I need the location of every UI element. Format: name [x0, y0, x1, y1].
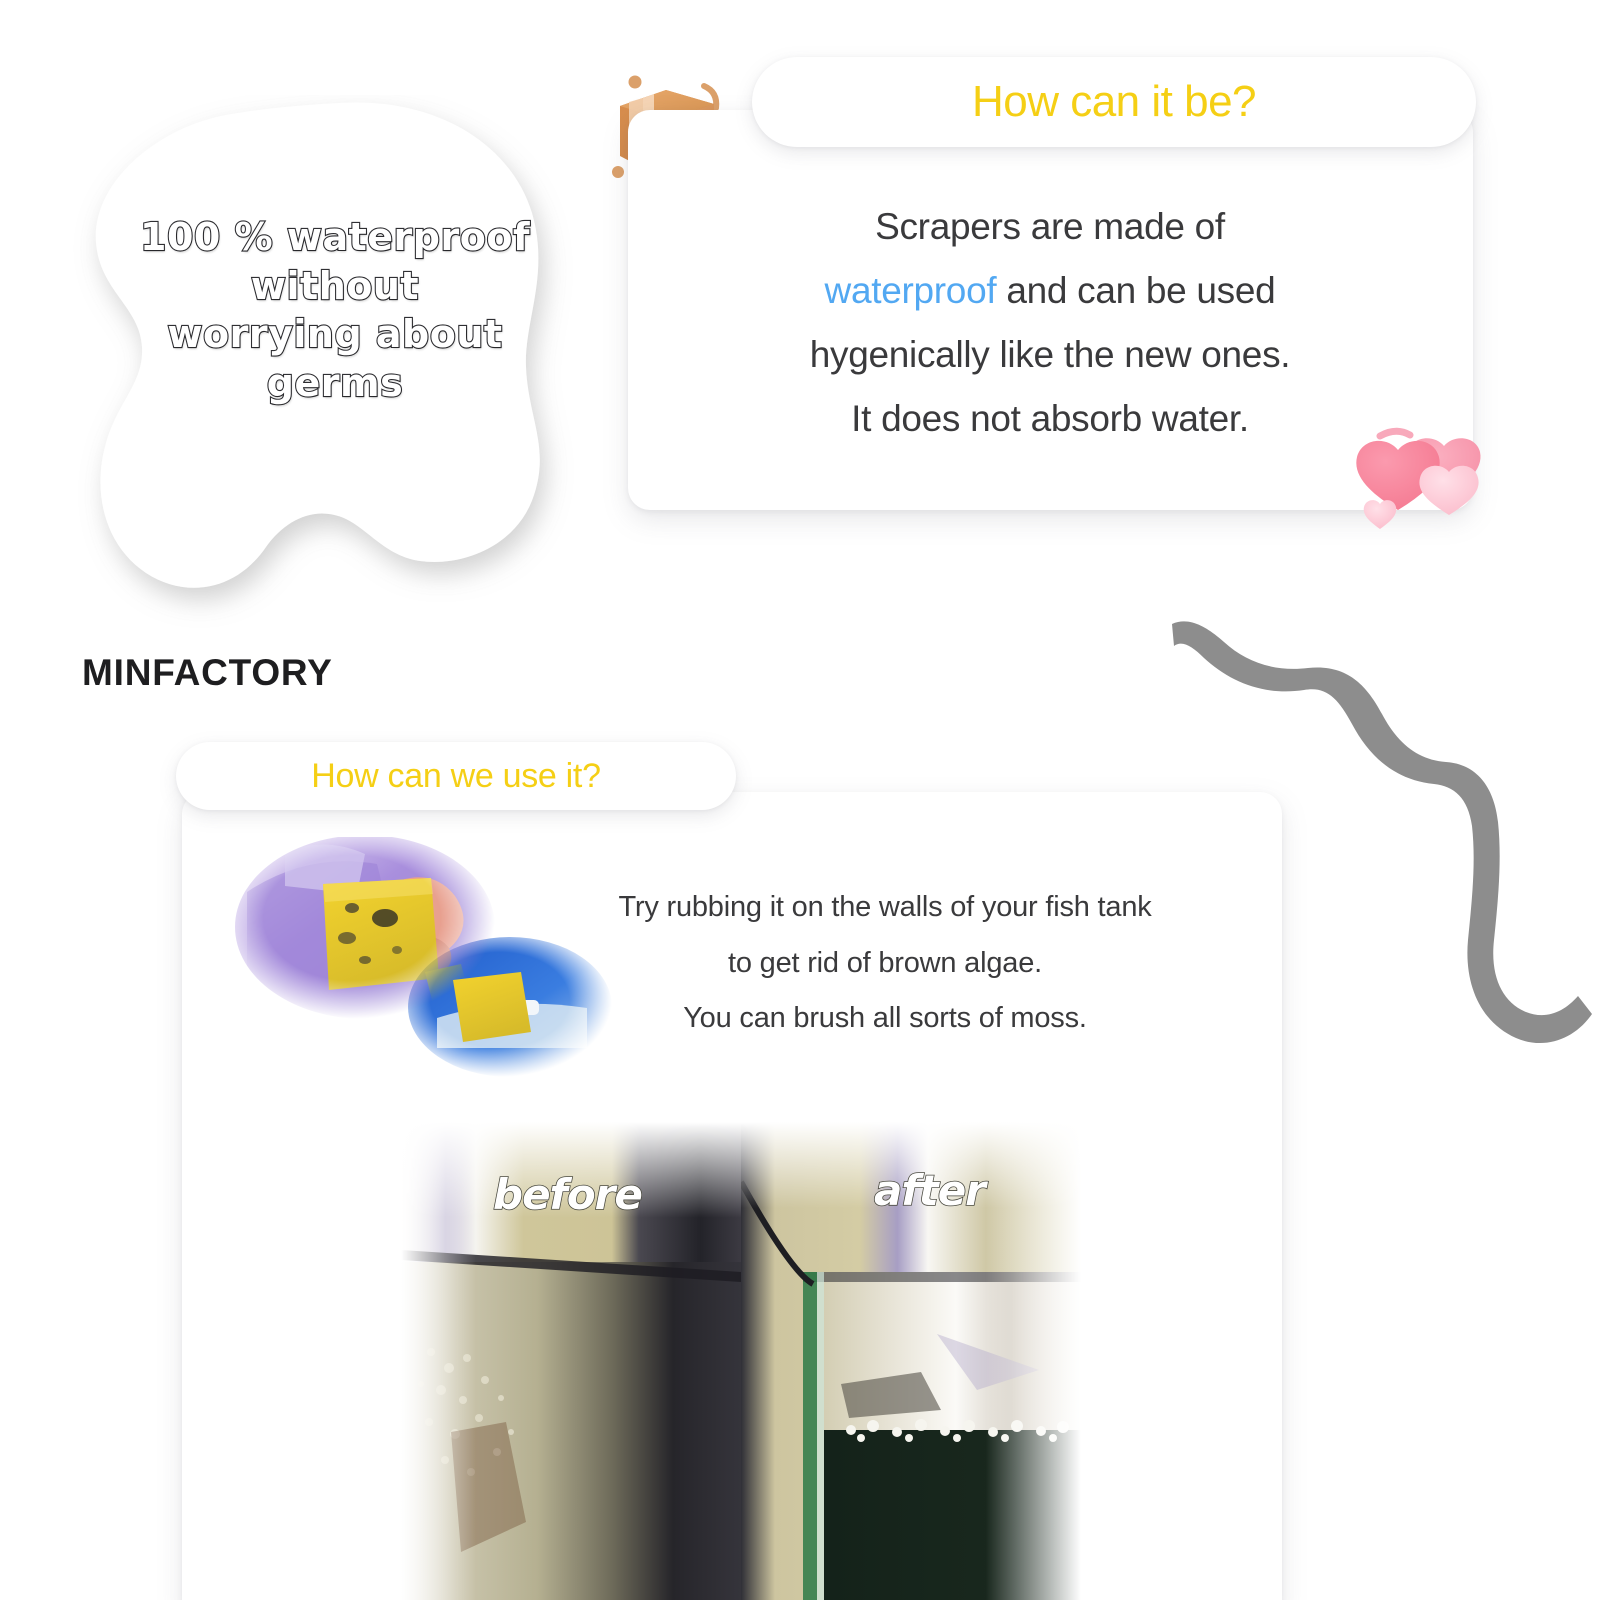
blob-line-3: worrying about: [100, 310, 570, 359]
card1-line-2-post: and can be used: [996, 270, 1275, 311]
card1-line-1: Scrapers are made of: [640, 195, 1460, 259]
tab-how-can-it-be-label: How can it be?: [972, 77, 1256, 127]
tab-how-can-we-use-it-label: How can we use it?: [311, 757, 600, 796]
blob-text-block: 100 % waterproof without worrying about …: [100, 213, 570, 408]
card2-line-2: to get rid of brown algae.: [560, 936, 1210, 992]
brand-name: MINFACTORY: [82, 652, 333, 694]
tab-how-can-we-use-it[interactable]: How can we use it?: [176, 742, 736, 810]
card1-line-3: hygenically like the new ones.: [640, 323, 1460, 387]
tab-how-can-it-be[interactable]: How can it be?: [752, 57, 1476, 147]
scraper-product-photo: [225, 832, 615, 1077]
before-label: before: [493, 1170, 642, 1219]
blob-line-2: without: [100, 262, 570, 311]
after-label: after: [874, 1166, 985, 1215]
card2-body-text: Try rubbing it on the walls of your fish…: [560, 880, 1210, 1047]
before-after-comparison: before: [401, 1122, 1081, 1600]
before-photo: before: [401, 1122, 741, 1600]
card1-line-1-pre: Scrapers are made of: [875, 206, 1225, 247]
card2-line-1: Try rubbing it on the walls of your fish…: [560, 880, 1210, 936]
card1-line-2: waterproof and can be used: [640, 259, 1460, 323]
waterproof-blob: 100 % waterproof without worrying about …: [40, 95, 640, 635]
waterproof-highlight: waterproof: [825, 270, 997, 311]
blob-line-1: 100 % waterproof: [100, 213, 570, 262]
blob-line-4: germs: [100, 359, 570, 408]
product-detail-page: 100 % waterproof without worrying about …: [0, 0, 1600, 1600]
two-hearts-icon: [1336, 412, 1496, 532]
after-photo: after: [741, 1122, 1081, 1600]
card2-line-3: You can brush all sorts of moss.: [560, 991, 1210, 1047]
